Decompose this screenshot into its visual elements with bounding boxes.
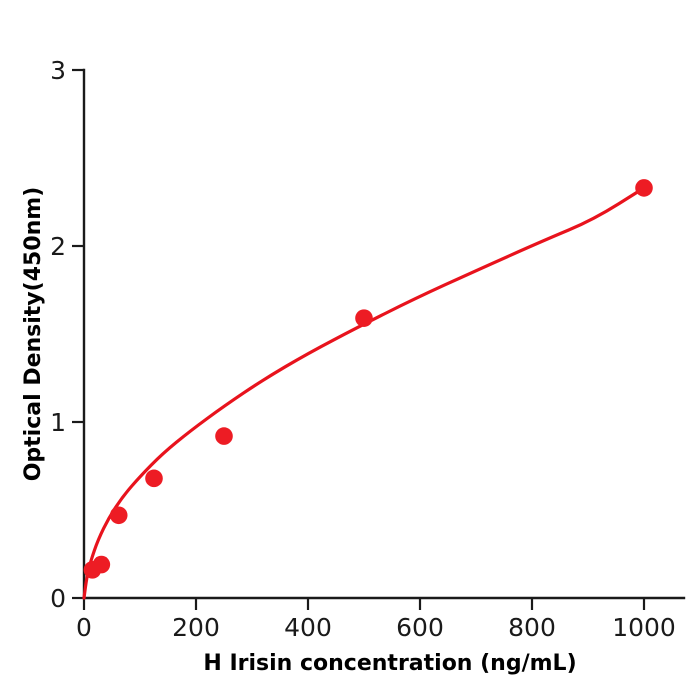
y-tick-label-0: 0 [50,584,66,613]
y-tick-label-1: 1 [50,408,66,437]
x-tick-label-1000: 1000 [612,613,676,642]
chart-container: 0 200 400 600 800 1000 0 1 2 3 H Irisin … [0,0,700,700]
data-point [635,179,653,197]
x-tick-label-800: 800 [508,613,556,642]
fitted-curve [84,188,644,598]
scatter-plot: 0 200 400 600 800 1000 0 1 2 3 H Irisin … [0,0,700,700]
data-point [110,506,128,524]
x-tick-label-0: 0 [76,613,92,642]
data-point-group [84,179,653,579]
x-tick-label-200: 200 [172,613,220,642]
x-tick-label-400: 400 [284,613,332,642]
data-point [145,470,163,488]
x-tick-label-600: 600 [396,613,444,642]
y-tick-label-3: 3 [50,56,66,85]
data-point [355,309,373,327]
y-tick-label-2: 2 [50,232,66,261]
data-point [215,427,233,445]
y-axis-title: Optical Density(450nm) [21,187,46,482]
x-axis-title: H Irisin concentration (ng/mL) [203,651,576,676]
data-point [93,556,111,574]
